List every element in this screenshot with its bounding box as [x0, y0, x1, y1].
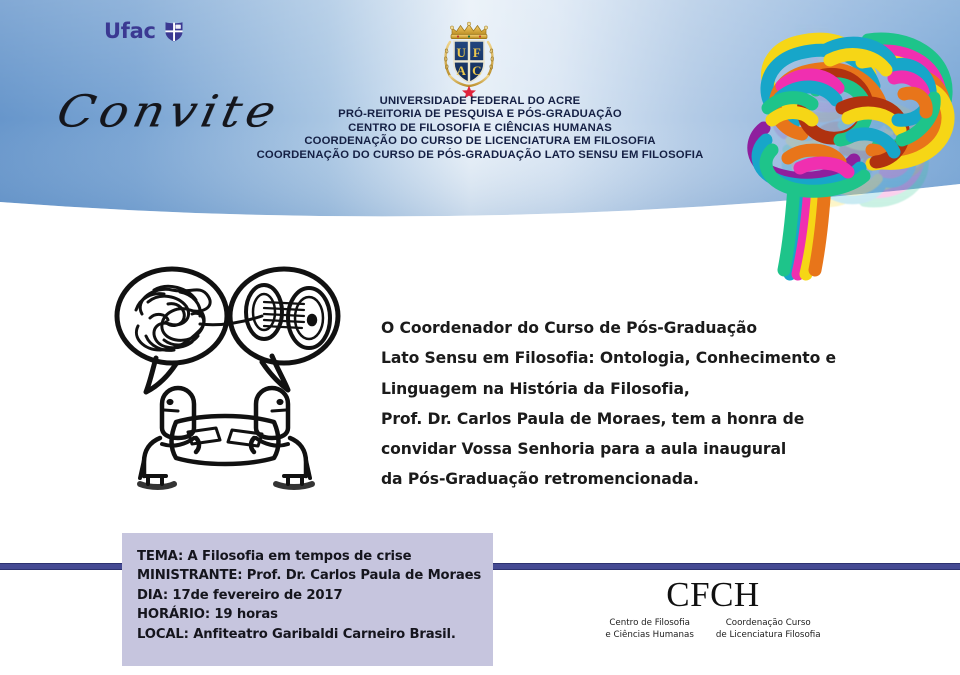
body-line-3: Linguagem na História da Filosofia, [381, 374, 851, 404]
institution-line-3: CENTRO DE FILOSOFIA E CIÊNCIAS HUMANAS [0, 122, 960, 135]
cfch-subtitle-left-line1: Centro de Filosofia [605, 618, 693, 630]
cfch-subtitle: Centro de Filosofia e Ciências Humanas C… [597, 618, 829, 641]
details-line-dia: DIA: 17de fevereiro de 2017 [137, 586, 493, 605]
institution-line-5: COORDENAÇÃO DO CURSO DE PÓS-GRADUAÇÃO LA… [0, 149, 960, 162]
ufac-coat-of-arms-icon: U F A C [433, 18, 505, 98]
details-line-horario: HORÁRIO: 19 horas [137, 605, 493, 624]
details-line-tema: TEMA: A Filosofia em tempos de crise [137, 547, 493, 566]
coat-letter-a: A [457, 63, 467, 78]
institution-heading: UNIVERSIDADE FEDERAL DO ACRE PRÓ-REITORI… [0, 95, 960, 162]
ufac-logo: Ufac [104, 20, 184, 42]
cfch-subtitle-right-line2: de Licenciatura Filosofia [716, 630, 821, 642]
cfch-logo: CFCH Centro de Filosofia e Ciências Huma… [597, 577, 829, 641]
details-line-local: LOCAL: Anfiteatro Garibaldi Carneiro Bra… [137, 625, 493, 644]
coat-letter-f: F [473, 45, 481, 60]
cfch-subtitle-left: Centro de Filosofia e Ciências Humanas [605, 618, 693, 641]
cfch-subtitle-left-line2: e Ciências Humanas [605, 630, 693, 642]
coat-letter-u: U [457, 45, 467, 60]
ufac-wordmark: Ufac [104, 21, 156, 42]
invitation-poster: Ufac Convite [0, 0, 960, 675]
event-details-panel: TEMA: A Filosofia em tempos de crise MIN… [122, 533, 493, 666]
cfch-wordmark: CFCH [597, 577, 829, 613]
details-line-ministrante: MINISTRANTE: Prof. Dr. Carlos Paula de M… [137, 566, 493, 585]
body-line-4: Prof. Dr. Carlos Paula de Moraes, tem a … [381, 404, 851, 434]
crown-icon [450, 22, 487, 39]
institution-line-2: PRÓ-REITORIA DE PESQUISA E PÓS-GRADUAÇÃO [0, 108, 960, 121]
cfch-subtitle-right: Coordenação Curso de Licenciatura Filoso… [716, 618, 821, 641]
body-line-2: Lato Sensu em Filosofia: Ontologia, Conh… [381, 343, 851, 373]
cfch-subtitle-right-line1: Coordenação Curso [716, 618, 821, 630]
institution-line-1: UNIVERSIDADE FEDERAL DO ACRE [0, 95, 960, 108]
institution-line-4: COORDENAÇÃO DO CURSO DE LICENCIATURA EM … [0, 135, 960, 148]
invitation-body-text: O Coordenador do Curso de Pós-Graduação … [381, 313, 851, 495]
body-line-5: convidar Vossa Senhoria para a aula inau… [381, 434, 851, 464]
coat-letter-c: C [472, 63, 481, 78]
two-people-thought-bubbles-icon [104, 252, 344, 492]
body-line-6: da Pós-Graduação retromencionada. [381, 464, 851, 494]
shield-icon [164, 20, 184, 42]
body-line-1: O Coordenador do Curso de Pós-Graduação [381, 313, 851, 343]
